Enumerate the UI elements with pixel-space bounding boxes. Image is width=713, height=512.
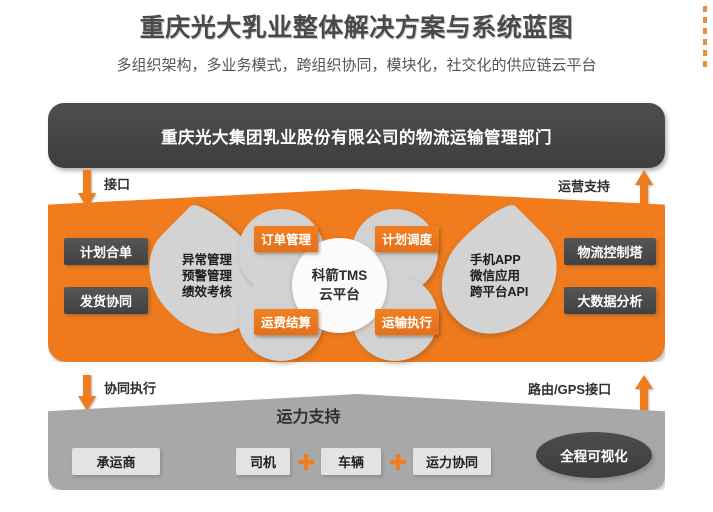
chip-vehicle[interactable]: 车辆 [321, 448, 381, 475]
organization-panel-label: 重庆光大集团乳业股份有限公司的物流运输管理部门 [48, 103, 665, 168]
connector-collaborative-execution-label: 协同执行 [104, 378, 156, 397]
pick-left-item-2: 预警管理 [182, 268, 232, 284]
page-subtitle: 多组织架构，多业务模式，跨组织协同，模块化，社交化的供应链云平台 [0, 54, 713, 75]
arrow-up-icon [635, 170, 653, 208]
chip-full-visibility[interactable]: 全程可视化 [536, 432, 652, 478]
pick-right-item-2: 微信应用 [470, 268, 528, 284]
pick-right-item-1: 手机APP [470, 252, 528, 268]
chip-big-data-analytics[interactable]: 大数据分析 [564, 287, 656, 314]
chip-plan-consolidation[interactable]: 计划合单 [64, 238, 148, 265]
pick-left-item-3: 绩效考核 [182, 284, 232, 300]
capacity-support-title: 运力支持 [0, 403, 617, 427]
chip-capacity-collaboration[interactable]: 运力协同 [413, 448, 491, 475]
chip-transport-execution[interactable]: 运输执行 [375, 309, 439, 335]
pick-right-text: 手机APP 微信应用 跨平台API [470, 252, 528, 300]
plus-icon-2: ✚ [389, 452, 407, 474]
connector-routing-gps-label: 路由/GPS接口 [528, 379, 611, 398]
arrow-up-icon [635, 375, 653, 411]
organization-panel: 重庆光大集团乳业股份有限公司的物流运输管理部门 [48, 103, 665, 168]
pick-left-item-1: 异常管理 [182, 252, 232, 268]
chip-driver[interactable]: 司机 [236, 448, 290, 475]
plus-icon-1: ✚ [297, 452, 315, 474]
chip-logistics-control-tower[interactable]: 物流控制塔 [564, 238, 656, 265]
pick-right-item-3: 跨平台API [470, 284, 528, 300]
pick-left-text: 异常管理 预警管理 绩效考核 [182, 252, 232, 300]
connector-operation-support-label: 运营支持 [558, 176, 610, 195]
chip-carrier[interactable]: 承运商 [72, 448, 160, 475]
chip-order-management[interactable]: 订单管理 [254, 226, 318, 252]
connector-interface-label: 接口 [104, 174, 130, 193]
diagram-canvas: 重庆光大乳业整体解决方案与系统蓝图 多组织架构，多业务模式，跨组织协同，模块化，… [0, 0, 713, 512]
chip-shipment-collaboration[interactable]: 发货协同 [64, 287, 148, 314]
hub-line-1: 科箭TMS [312, 267, 368, 285]
chip-plan-dispatch[interactable]: 计划调度 [375, 226, 439, 252]
page-title: 重庆光大乳业整体解决方案与系统蓝图 [0, 8, 713, 44]
hub-line-2: 云平台 [319, 286, 360, 304]
chip-freight-settlement[interactable]: 运费结算 [254, 309, 318, 335]
